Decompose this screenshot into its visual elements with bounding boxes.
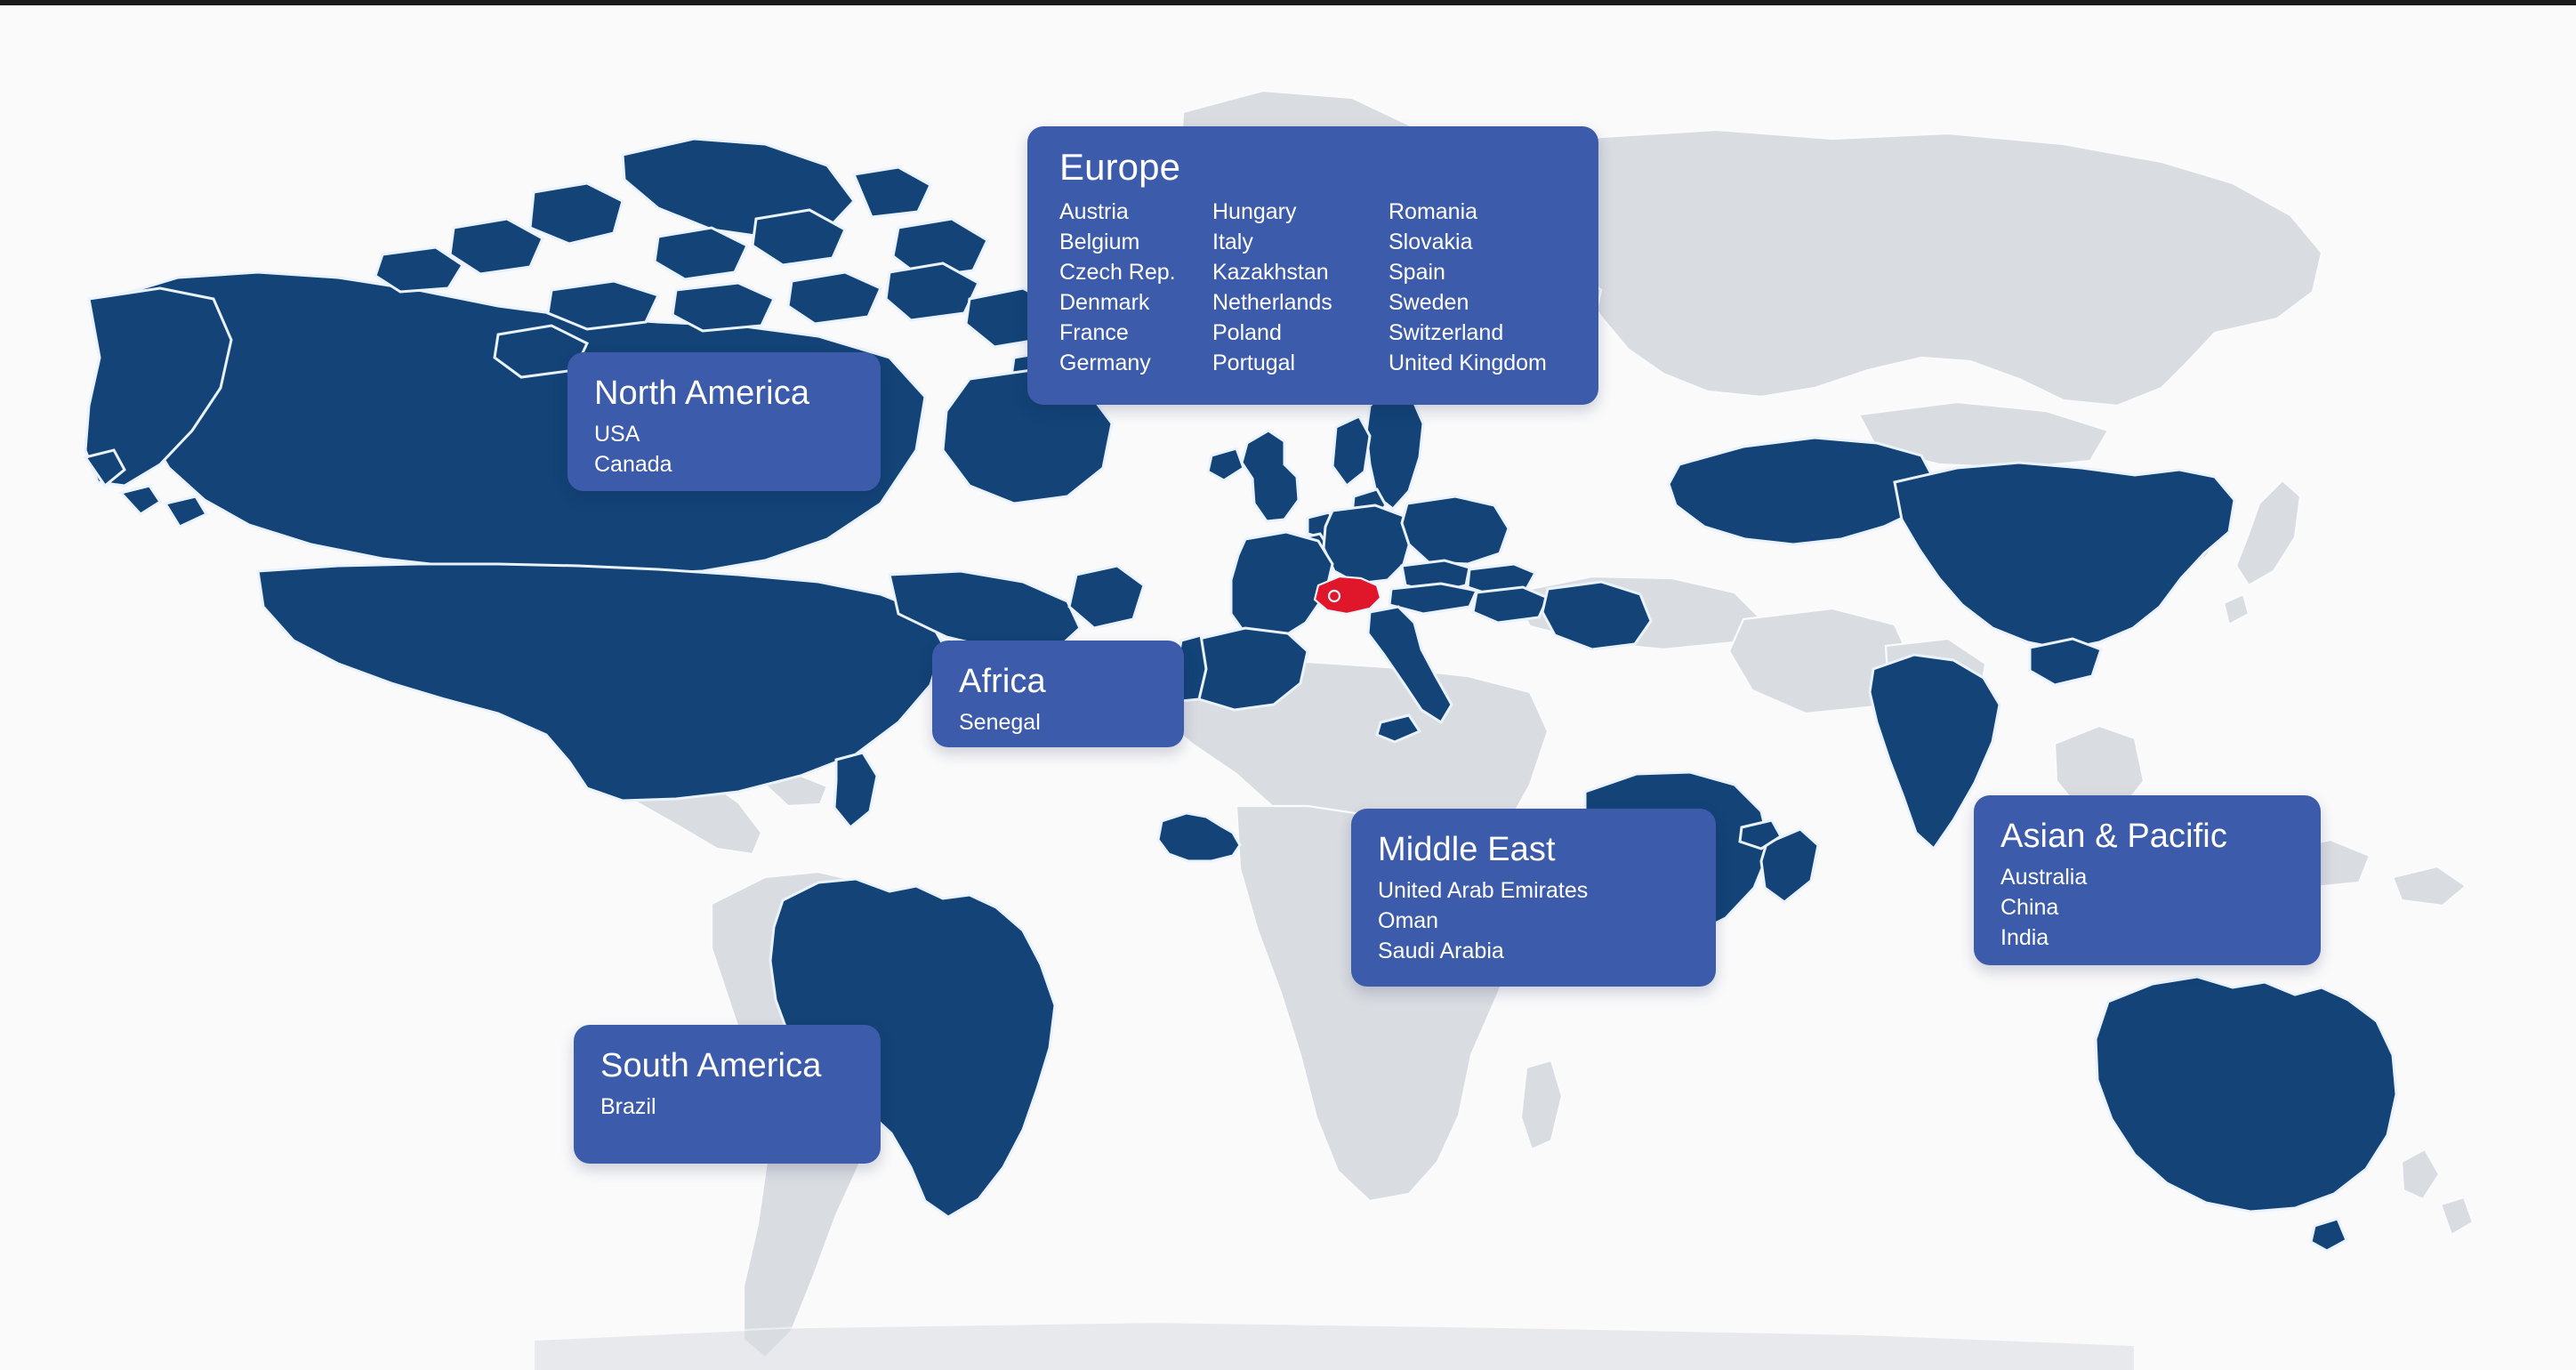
region-card-south-america[interactable]: South America Brazil bbox=[574, 1025, 881, 1164]
region-title-south-america: South America bbox=[600, 1048, 854, 1084]
region-country-columns-europe: Austria Belgium Czech Rep. Denmark Franc… bbox=[1059, 197, 1574, 378]
country-item: Switzerland bbox=[1389, 318, 1547, 348]
country-item: Portugal bbox=[1212, 348, 1389, 378]
country-item: Denmark bbox=[1059, 287, 1212, 318]
country-item: United Arab Emirates bbox=[1378, 875, 1689, 906]
country-romania bbox=[1542, 582, 1651, 649]
country-item: Saudi Arabia bbox=[1378, 936, 1689, 966]
country-item: Hungary bbox=[1212, 197, 1389, 227]
country-item: Austria bbox=[1059, 197, 1212, 227]
region-card-africa[interactable]: Africa Senegal bbox=[932, 641, 1184, 747]
region-card-asian-pacific[interactable]: Asian & Pacific Australia China India bbox=[1974, 795, 2321, 965]
country-item: Kazakhstan bbox=[1212, 257, 1389, 287]
country-item: Brazil bbox=[600, 1092, 854, 1122]
country-australia bbox=[2096, 977, 2396, 1212]
country-item: Australia bbox=[2000, 862, 2294, 892]
country-senegal bbox=[1158, 813, 1240, 861]
region-country-list-col-2: Hungary Italy Kazakhstan Netherlands Pol… bbox=[1212, 197, 1389, 378]
region-card-north-america[interactable]: North America USA Canada bbox=[568, 352, 881, 491]
region-card-europe[interactable]: Europe Austria Belgium Czech Rep. Denmar… bbox=[1027, 126, 1598, 405]
region-country-list-asian-pacific: Australia China India bbox=[2000, 862, 2294, 953]
country-item: Netherlands bbox=[1212, 287, 1389, 318]
region-country-list-south-america: Brazil bbox=[600, 1092, 854, 1122]
region-title-asian-pacific: Asian & Pacific bbox=[2000, 818, 2294, 854]
country-item: United Kingdom bbox=[1389, 348, 1547, 378]
country-china bbox=[1895, 463, 2234, 649]
region-country-list-col-1: Austria Belgium Czech Rep. Denmark Franc… bbox=[1059, 197, 1212, 378]
region-country-list-middle-east: United Arab Emirates Oman Saudi Arabia bbox=[1378, 875, 1689, 966]
country-united-kingdom bbox=[1242, 431, 1299, 521]
country-germany bbox=[1324, 505, 1411, 584]
country-item: Poland bbox=[1212, 318, 1389, 348]
country-item: France bbox=[1059, 318, 1212, 348]
country-item: Italy bbox=[1212, 227, 1389, 257]
region-country-list-africa: Senegal bbox=[959, 707, 1157, 737]
region-title-europe: Europe bbox=[1059, 148, 1574, 188]
country-item: Romania bbox=[1389, 197, 1547, 227]
country-item: India bbox=[2000, 923, 2294, 953]
world-map-infographic: North America USA Canada Europe Austria … bbox=[0, 0, 2576, 1370]
region-country-list-north-america: USA Canada bbox=[594, 419, 854, 479]
region-title-north-america: North America bbox=[594, 375, 854, 411]
country-item: Senegal bbox=[959, 707, 1157, 737]
country-poland bbox=[1402, 496, 1509, 564]
country-hungary bbox=[1473, 587, 1548, 623]
country-item: Slovakia bbox=[1389, 227, 1547, 257]
country-item: Germany bbox=[1059, 348, 1212, 378]
country-item: Belgium bbox=[1059, 227, 1212, 257]
country-item: USA bbox=[594, 419, 854, 449]
country-item: Czech Rep. bbox=[1059, 257, 1212, 287]
region-title-middle-east: Middle East bbox=[1378, 832, 1689, 867]
country-item: Spain bbox=[1389, 257, 1547, 287]
country-item: Sweden bbox=[1389, 287, 1547, 318]
country-item: Oman bbox=[1378, 906, 1689, 936]
region-country-list-col-3: Romania Slovakia Spain Sweden Switzerlan… bbox=[1389, 197, 1547, 378]
country-item: Canada bbox=[594, 449, 854, 479]
country-switzerland-highlight bbox=[1315, 576, 1381, 614]
region-card-middle-east[interactable]: Middle East United Arab Emirates Oman Sa… bbox=[1351, 809, 1716, 987]
country-item: China bbox=[2000, 892, 2294, 923]
region-title-africa: Africa bbox=[959, 664, 1157, 699]
